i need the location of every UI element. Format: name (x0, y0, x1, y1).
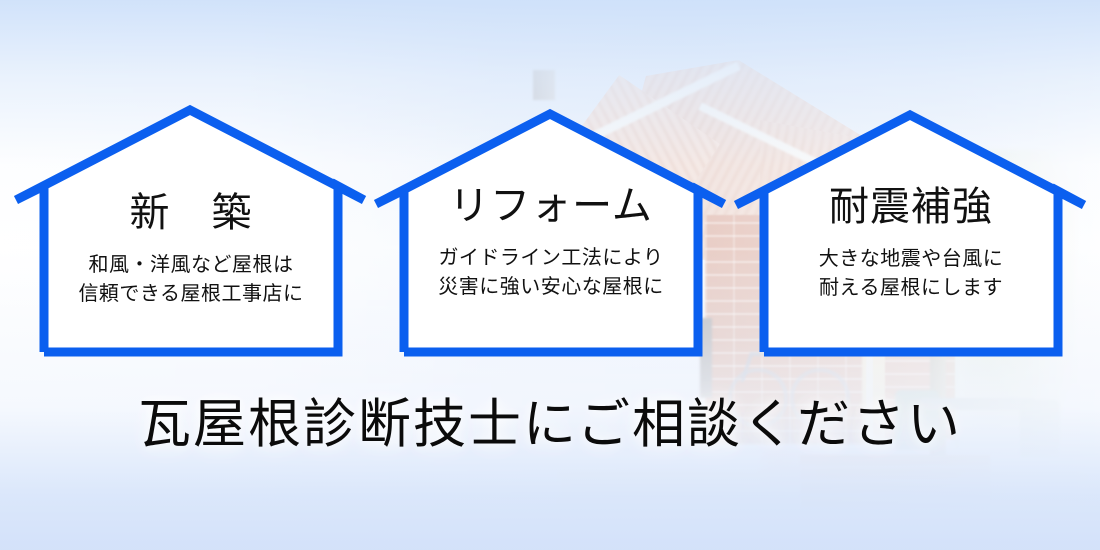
house-subtext-new-construction: 和風・洋風など屋根は 信頼できる屋根工事店に (44, 250, 338, 308)
house-outline-group: 新 築 和風・洋風など屋根は 信頼できる屋根工事店に リフォーム ガイドライン工… (0, 0, 1100, 550)
house-subtext-seismic-reinforcement: 大きな地震や台風に 耐える屋根にします (764, 244, 1058, 302)
house-card-reform: リフォーム ガイドライン工法により 災害に強い安心な屋根に (404, 186, 698, 301)
house-subtext-line: 信頼できる屋根工事店に (44, 279, 338, 308)
house-title-new-construction: 新 築 (44, 193, 338, 233)
house-title-seismic-reinforcement: 耐震補強 (764, 187, 1058, 227)
house-card-new-construction: 新 築 和風・洋風など屋根は 信頼できる屋根工事店に (44, 193, 338, 308)
house-subtext-line: 災害に強い安心な屋根に (404, 272, 698, 301)
house-subtext-line: 耐える屋根にします (764, 273, 1058, 302)
house-subtext-line: 大きな地震や台風に (764, 244, 1058, 273)
house-subtext-line: 和風・洋風など屋根は (44, 250, 338, 279)
house-subtext-line: ガイドライン工法により (404, 243, 698, 272)
roof-services-banner: 新 築 和風・洋風など屋根は 信頼できる屋根工事店に リフォーム ガイドライン工… (0, 0, 1100, 550)
house-subtext-reform: ガイドライン工法により 災害に強い安心な屋根に (404, 243, 698, 301)
house-title-reform: リフォーム (404, 186, 698, 226)
headline: 瓦屋根診断技士にご相談ください (0, 398, 1100, 451)
house-card-seismic-reinforcement: 耐震補強 大きな地震や台風に 耐える屋根にします (764, 187, 1058, 302)
